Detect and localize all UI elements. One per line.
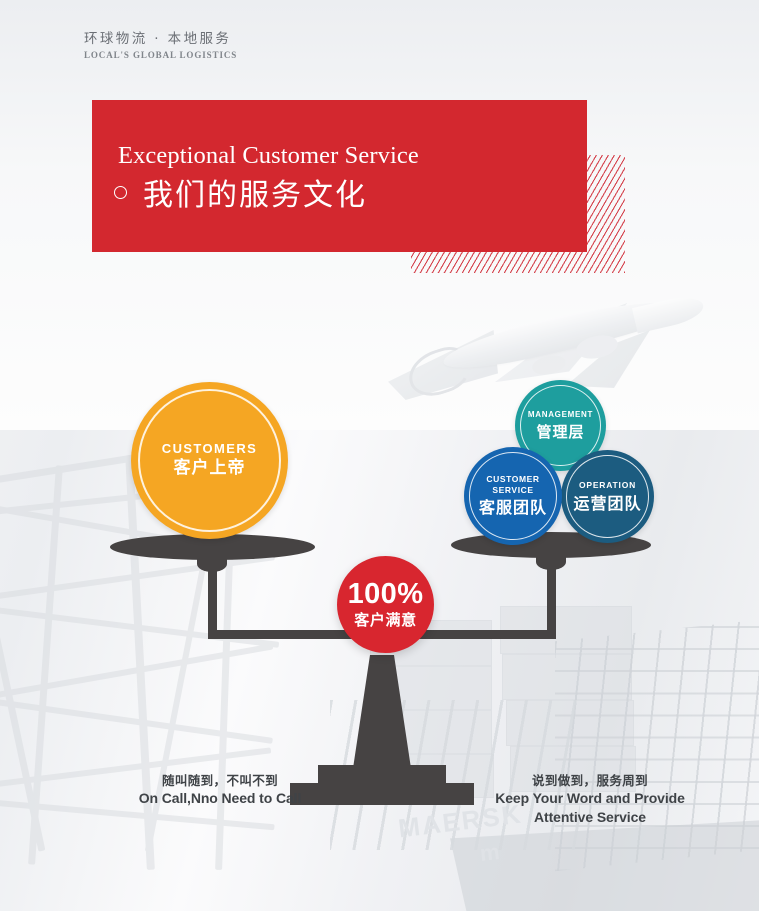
caption-left-english: On Call,Nno Need to Call [120,789,320,808]
caption-right-english-line2: Attentive Service [480,808,700,827]
circle-management-english: MANAGEMENT [528,408,593,421]
circle-operation-chinese: 运营团队 [573,493,641,515]
circle-satisfaction[interactable]: 100% 客户满意 [337,556,434,653]
caption-right-english-line1: Keep Your Word and Provide [480,789,700,808]
circle-customers-english: CUSTOMERS [162,442,257,455]
circle-customer-service-chinese: 客服团队 [479,497,547,519]
circle-customer-service[interactable]: CUSTOMER SERVICE 客服团队 [464,447,562,545]
scale-base-upper [318,765,446,785]
caption-left: 随叫随到，不叫不到 On Call,Nno Need to Call [120,772,320,808]
circle-operation-english: OPERATION [579,479,636,492]
satisfaction-label-chinese: 客户满意 [354,609,416,631]
circle-customer-service-english-line1: CUSTOMER [486,474,539,485]
circle-operation[interactable]: OPERATION 运营团队 [561,450,654,543]
circle-customers[interactable]: CUSTOMERS 客户上帝 [131,382,288,539]
satisfaction-value: 100% [348,579,424,609]
circle-customer-service-english-line2: SERVICE [492,485,533,496]
circle-management-chinese: 管理层 [536,421,584,443]
slide-root: MAERSK m 环球物流 · 本地服务 LOCAL'S GLOBAL LOGI… [0,0,759,911]
scale-column [352,655,412,775]
scale-arm-left [208,566,217,638]
caption-right-chinese: 说到做到，服务周到 [480,772,700,789]
caption-right: 说到做到，服务周到 Keep Your Word and Provide Att… [480,772,700,827]
caption-left-chinese: 随叫随到，不叫不到 [120,772,320,789]
circle-customers-chinese: 客户上帝 [174,457,246,479]
scale-arm-right [547,564,556,638]
